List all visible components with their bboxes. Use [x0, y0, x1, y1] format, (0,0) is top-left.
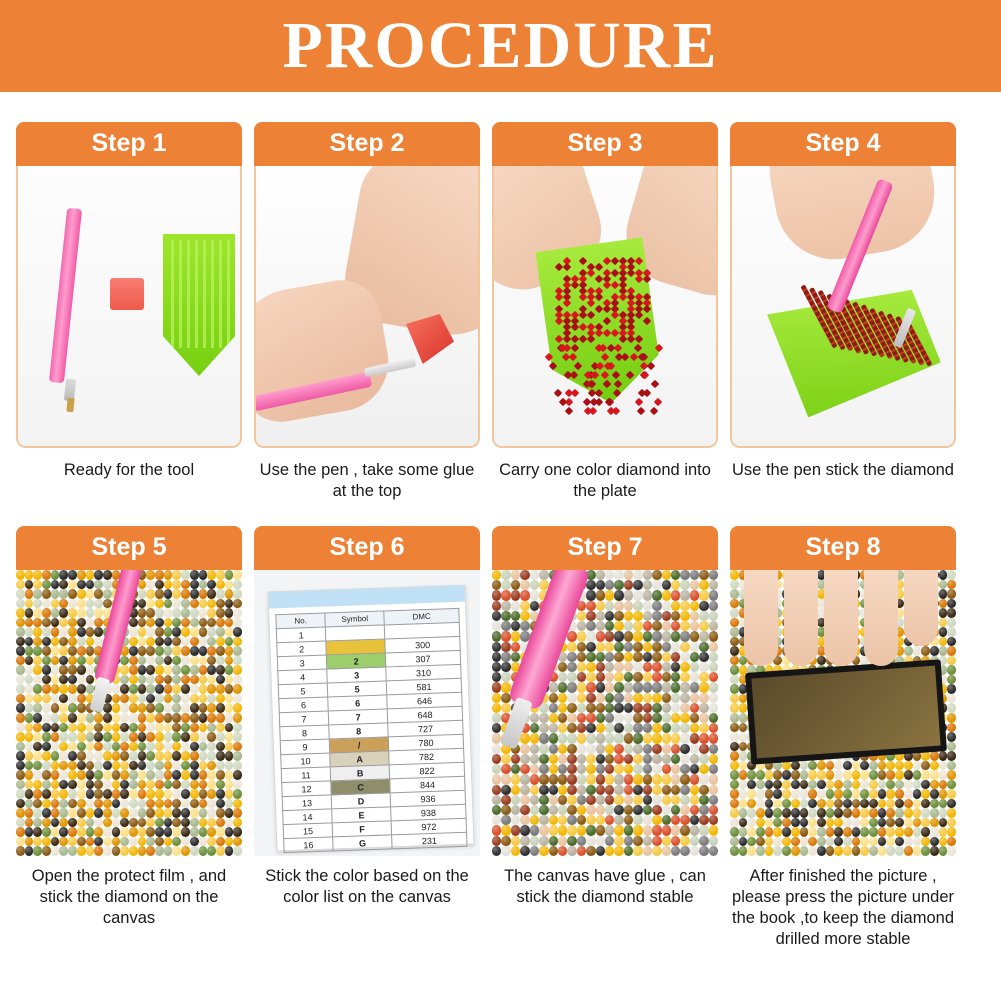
step-title-6: Step 6: [254, 526, 480, 570]
step-title-2: Step 2: [254, 122, 480, 166]
page-header: PROCEDURE: [0, 0, 1001, 92]
step-card-5: Step 5 Open the protect film , and stick…: [16, 526, 242, 950]
step-card-3: Step 3 Carry one color diamond into the …: [492, 122, 718, 502]
step-caption-7: The canvas have glue , can stick the dia…: [492, 866, 718, 908]
steps-grid-row-1: Step 1 Ready for the tool Step 2: [0, 92, 1001, 502]
color-list-table: No.SymbolDMC1230032307433105558166646776…: [275, 608, 467, 853]
hand-fingers-icon: [744, 570, 954, 670]
step-photo-3: [492, 166, 718, 448]
book-icon: [745, 659, 947, 764]
step-photo-8: [730, 570, 956, 856]
step-caption-2: Use the pen , take some glue at the top: [254, 460, 480, 502]
step-photo-5: [16, 570, 242, 856]
step-caption-3: Carry one color diamond into the plate: [492, 460, 718, 502]
step-photo-1: [16, 166, 242, 448]
step-card-8: Step 8 After finished the picture , plea…: [730, 526, 956, 950]
step-title-5: Step 5: [16, 526, 242, 570]
table-cell: 16: [284, 837, 334, 853]
step-caption-8: After finished the picture , please pres…: [730, 866, 956, 950]
step-card-2: Step 2 Use the pen , take some glue at t…: [254, 122, 480, 502]
red-diamonds-group: [494, 166, 716, 446]
step-title-1: Step 1: [16, 122, 242, 166]
glue-square-icon: [110, 278, 144, 310]
step-photo-6: No.SymbolDMC1230032307433105558166646776…: [254, 570, 480, 856]
step-title-7: Step 7: [492, 526, 718, 570]
step-caption-5: Open the protect film , and stick the di…: [16, 866, 242, 929]
step-card-7: Step 7 The canvas have glue , can stick …: [492, 526, 718, 950]
step-caption-4: Use the pen stick the diamond: [730, 460, 956, 481]
steps-grid-row-2: Step 5 Open the protect film , and stick…: [0, 502, 1001, 950]
step-title-3: Step 3: [492, 122, 718, 166]
color-chart-sheet: No.SymbolDMC1230032307433105558166646776…: [268, 585, 475, 852]
step-card-1: Step 1 Ready for the tool: [16, 122, 242, 502]
procedure-page: PROCEDURE Step 1 Ready for the tool: [0, 0, 1001, 1001]
step-photo-4: [730, 166, 956, 448]
step-card-4: Step 4 Use the pen stick the diamond: [730, 122, 956, 502]
step-caption-1: Ready for the tool: [16, 460, 242, 481]
table-cell: G: [333, 835, 393, 851]
page-title: PROCEDURE: [282, 8, 718, 84]
step-photo-7: [492, 570, 718, 856]
step-caption-6: Stick the color based on the color list …: [254, 866, 480, 908]
table-cell: 231: [392, 832, 467, 849]
step-title-8: Step 8: [730, 526, 956, 570]
pen-nib-icon: [66, 398, 74, 413]
step-title-4: Step 4: [730, 122, 956, 166]
step-card-6: Step 6 No.SymbolDMC123003230743310555816…: [254, 526, 480, 950]
step-photo-2: [254, 166, 480, 448]
